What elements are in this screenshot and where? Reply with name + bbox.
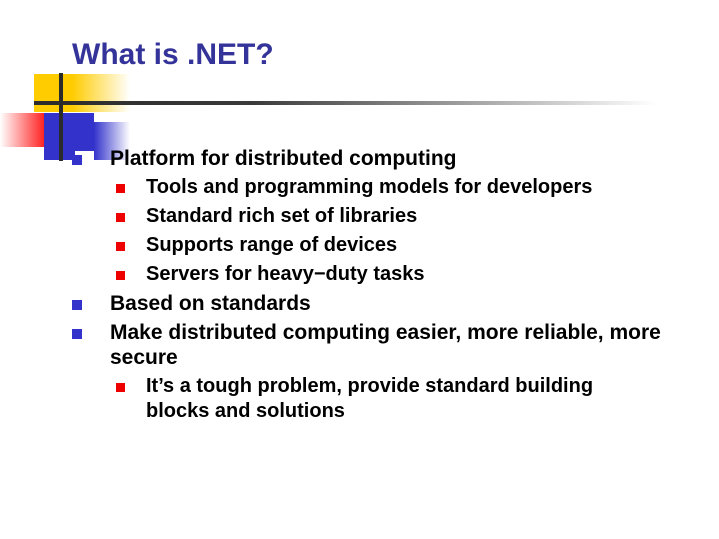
horizontal-rule-decoration bbox=[34, 101, 656, 105]
blue-square-bullet-icon bbox=[72, 155, 82, 165]
list-item-label: It’s a tough problem, provide standard b… bbox=[146, 374, 659, 424]
list-item-label: Supports range of devices bbox=[146, 233, 659, 258]
list-item-label: Standard rich set of libraries bbox=[146, 204, 659, 229]
blue-square-bullet-icon bbox=[72, 300, 82, 310]
blue-square-bullet-icon bbox=[72, 329, 82, 339]
yellow-gradient-decoration bbox=[72, 74, 130, 112]
list-item-label: Based on standards bbox=[110, 291, 695, 316]
red-square-bullet-icon bbox=[116, 213, 125, 222]
list-item: Tools and programming models for develop… bbox=[0, 175, 719, 200]
page-title: What is .NET? bbox=[72, 38, 274, 72]
presentation-slide: What is .NET? Platform for distributed c… bbox=[0, 0, 719, 539]
list-item: Standard rich set of libraries bbox=[0, 204, 719, 229]
list-item: It’s a tough problem, provide standard b… bbox=[0, 374, 719, 424]
list-item: Platform for distributed computing bbox=[0, 146, 719, 171]
red-square-bullet-icon bbox=[116, 383, 125, 392]
red-gradient-decoration bbox=[0, 113, 46, 147]
slide-body-list: Platform for distributed computing Tools… bbox=[0, 146, 719, 428]
list-item-label: Servers for heavy−duty tasks bbox=[146, 262, 659, 287]
red-square-bullet-icon bbox=[116, 271, 125, 280]
list-item: Based on standards bbox=[0, 291, 719, 316]
yellow-square-decoration bbox=[34, 74, 72, 112]
red-square-bullet-icon bbox=[116, 242, 125, 251]
list-item-label: Platform for distributed computing bbox=[110, 146, 695, 171]
red-square-bullet-icon bbox=[116, 184, 125, 193]
list-item: Make distributed computing easier, more … bbox=[0, 320, 719, 370]
list-item: Servers for heavy−duty tasks bbox=[0, 262, 719, 287]
list-item: Supports range of devices bbox=[0, 233, 719, 258]
list-item-label: Tools and programming models for develop… bbox=[146, 175, 659, 200]
list-item-label: Make distributed computing easier, more … bbox=[110, 320, 695, 370]
